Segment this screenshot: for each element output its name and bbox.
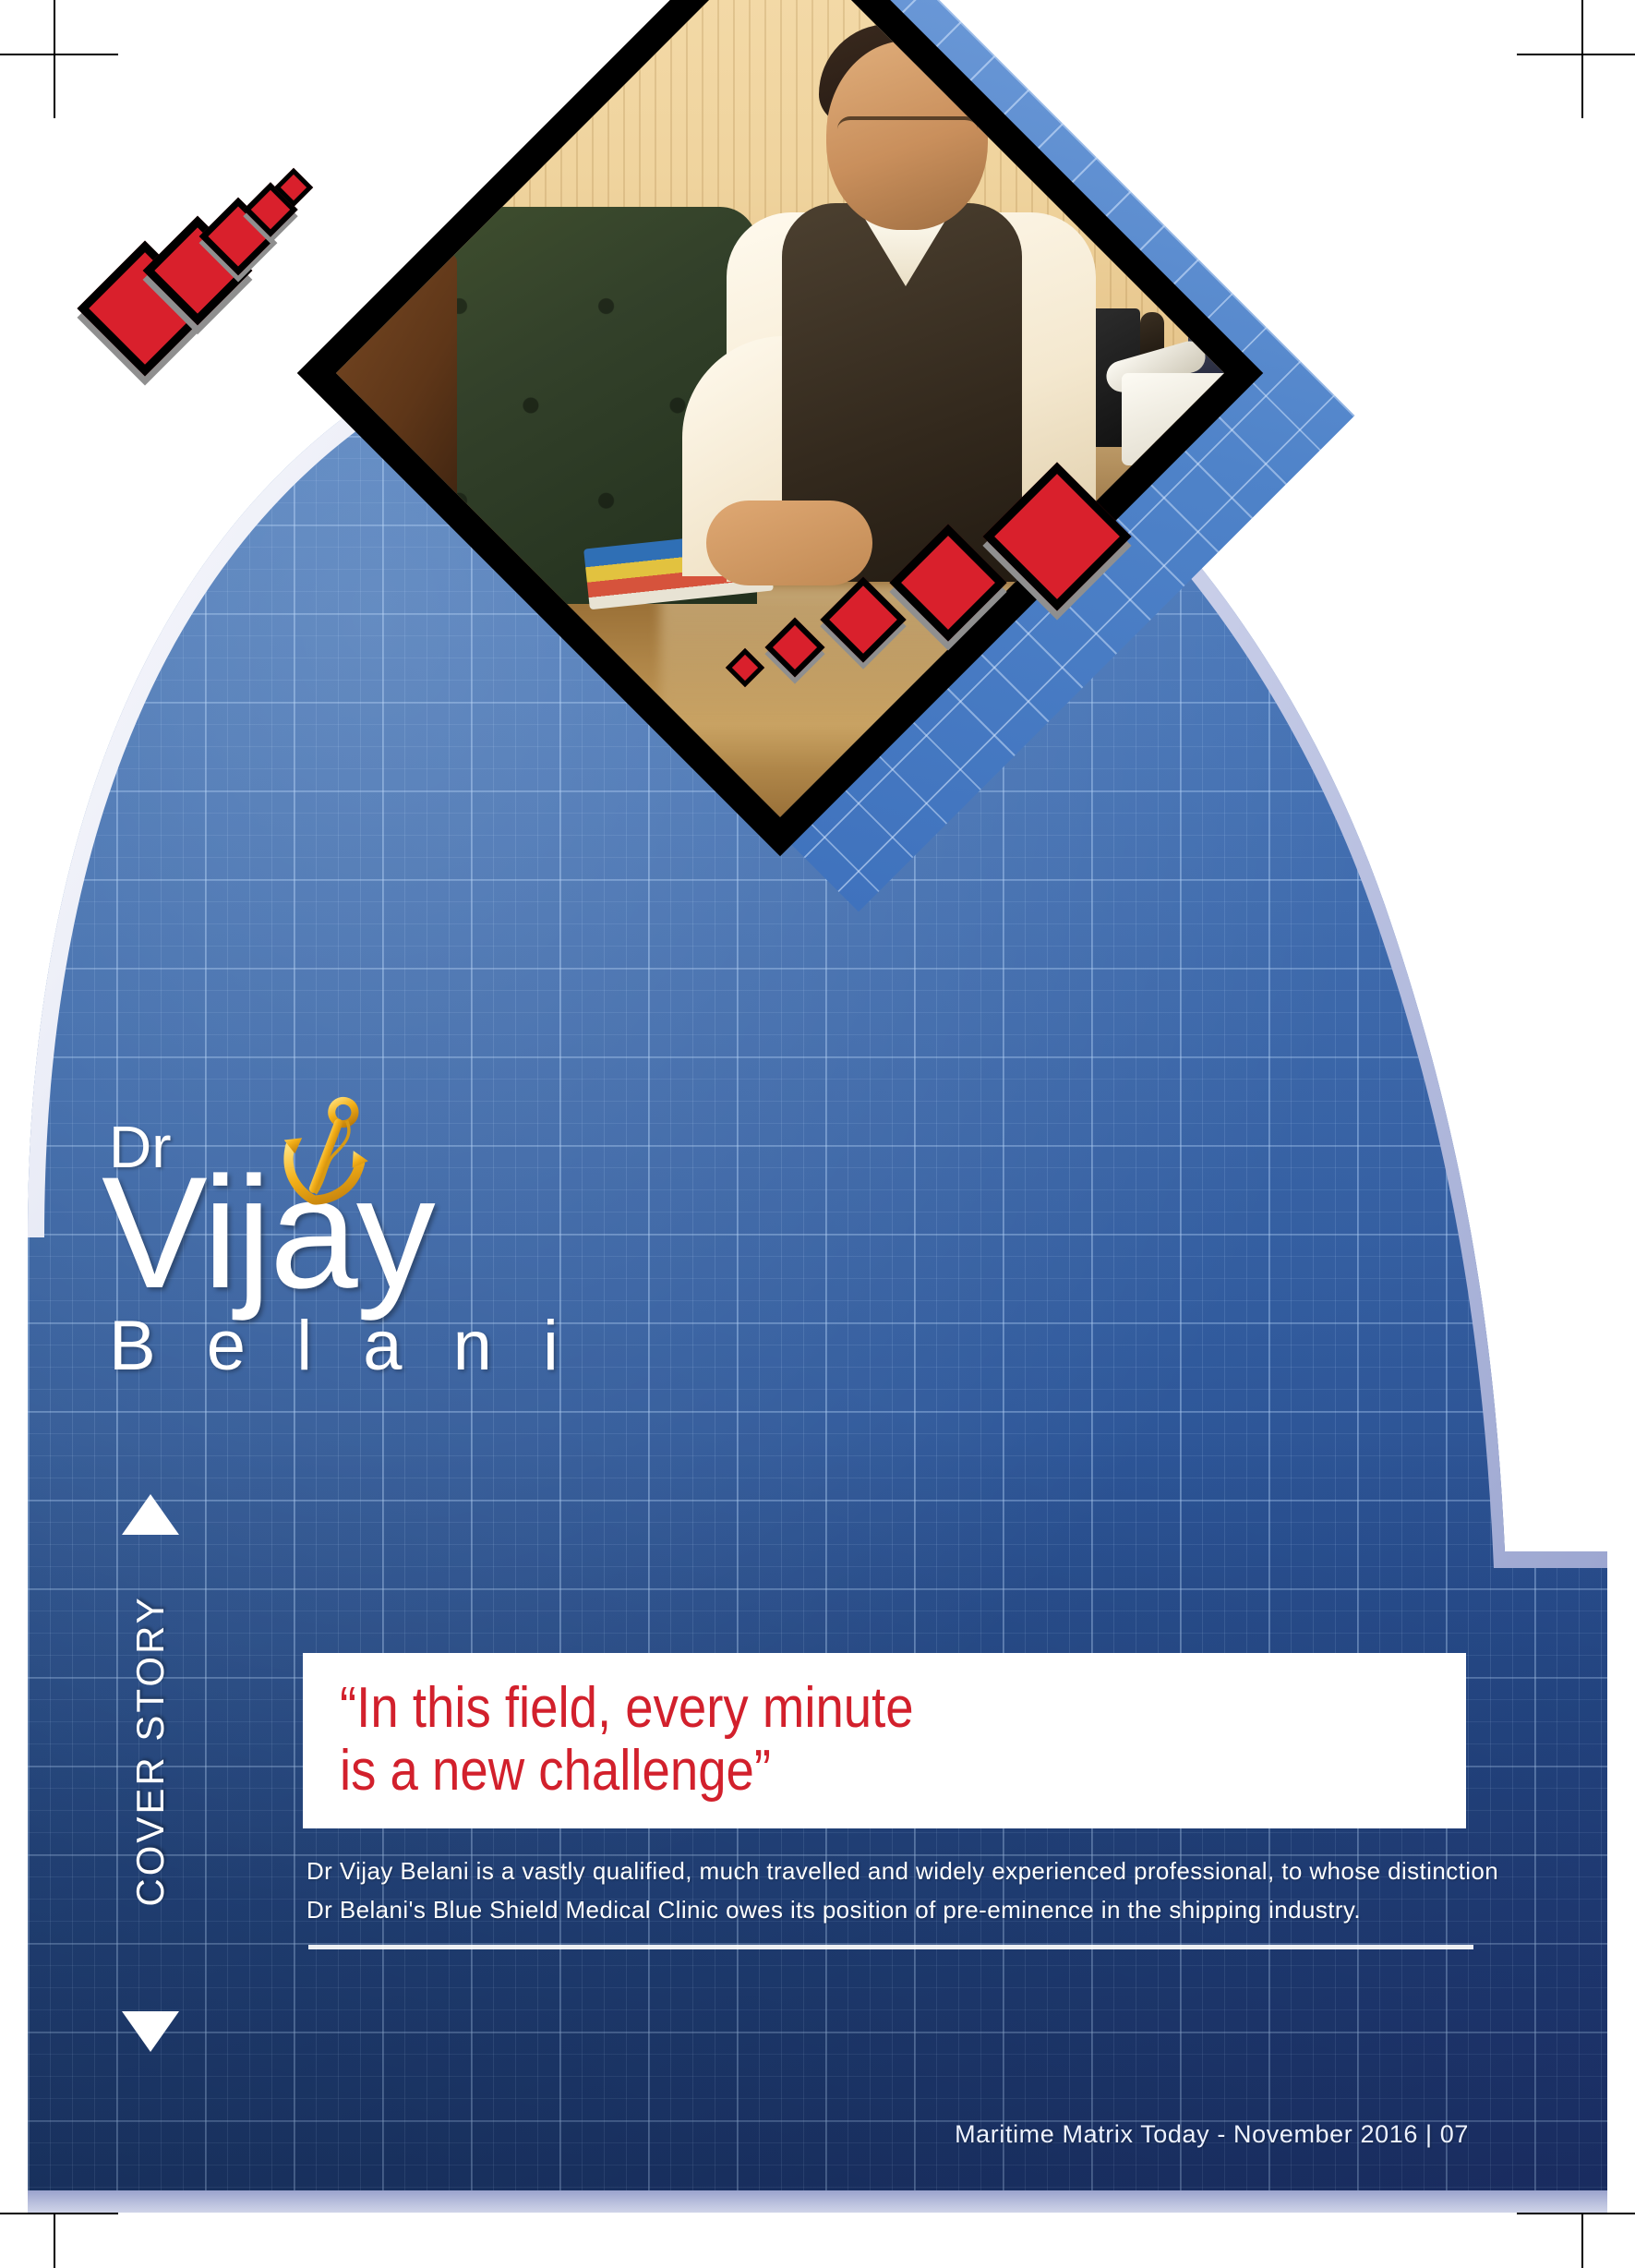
intro-paragraph: Dr Vijay Belani is a vastly qualified, m… <box>307 1852 1516 1929</box>
name-last: B e l a n i <box>102 1311 803 1381</box>
crop-mark-top-left-horizontal <box>0 54 118 55</box>
quote-line-2: is a new challenge” <box>340 1740 1298 1803</box>
person-hands <box>706 501 872 585</box>
cover-story-tab: COVER STORY <box>118 1533 183 2013</box>
crop-mark-bottom-right-horizontal <box>1517 2213 1635 2214</box>
portrait-photo-content <box>336 0 1224 817</box>
quote-line-1: “In this field, every minute <box>340 1677 1298 1740</box>
divider-rule <box>308 1945 1473 1949</box>
name-first: Vijay <box>102 1160 803 1306</box>
panel-bottom-edge <box>28 2190 1607 2213</box>
magazine-cover-story-page: Dr Vijay B <box>0 0 1635 2268</box>
cover-story-label: COVER STORY <box>128 1523 173 1979</box>
crop-mark-bottom-left-horizontal <box>0 2213 118 2214</box>
subject-name-block: Dr Vijay B <box>102 1117 803 1381</box>
diamond-photo-assembly <box>111 9 1588 840</box>
person-eyeglasses <box>837 116 978 148</box>
anchor-icon <box>272 1093 379 1210</box>
pull-quote-box: “In this field, every minute is a new ch… <box>303 1653 1466 1828</box>
portrait-photo <box>336 0 1224 817</box>
triangle-down-icon <box>122 2011 179 2052</box>
page-footer: Maritime Matrix Today - November 2016 | … <box>955 2120 1469 2149</box>
crop-mark-top-left-vertical <box>54 0 55 118</box>
